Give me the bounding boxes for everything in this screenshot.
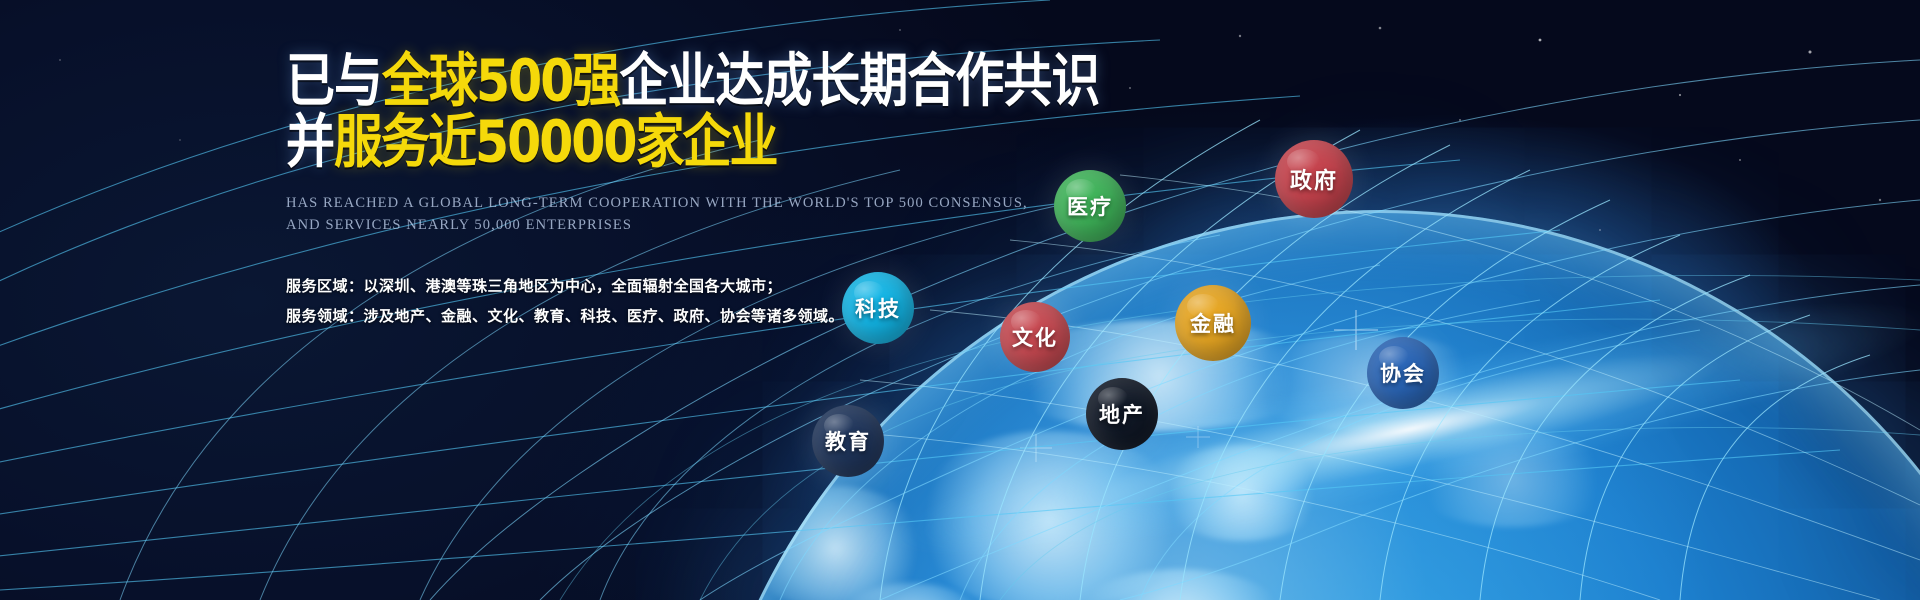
service-area-line: 服务区域：以深圳、港澳等珠三角地区为中心，全面辐射全国各大城市；	[286, 271, 1026, 301]
industry-bubble-label: 教育	[825, 426, 871, 456]
industry-bubble[interactable]: 协会	[1367, 337, 1439, 409]
service-field-line: 服务领域：涉及地产、金融、文化、教育、科技、医疗、政府、协会等诸多领域。	[286, 301, 1026, 331]
headline-line2-part1: 并	[286, 108, 334, 175]
service-description: 服务区域：以深圳、港澳等珠三角地区为中心，全面辐射全国各大城市； 服务领域：涉及…	[286, 271, 1026, 331]
headline-line2-part2: 服务近50000家企业	[334, 108, 776, 175]
headline: 已与全球500强企业达成长期合作共识 并服务近50000家企业	[286, 52, 1026, 162]
industry-bubble-label: 地产	[1099, 399, 1145, 429]
english-subtitle-line1: HAS REACHED A GLOBAL LONG-TERM COOPERATI…	[286, 192, 1026, 214]
banner-copy: 已与全球500强企业达成长期合作共识 并服务近50000家企业 HAS REAC…	[286, 52, 1026, 331]
industry-bubble[interactable]: 教育	[812, 405, 884, 477]
headline-line1-part2: 全球500强	[382, 47, 619, 114]
industry-bubble-label: 协会	[1380, 358, 1426, 388]
industry-bubble-label: 科技	[855, 293, 901, 323]
industry-bubble-label: 政府	[1290, 163, 1338, 195]
industry-bubble[interactable]: 政府	[1275, 140, 1353, 218]
industry-bubble[interactable]: 文化	[1000, 302, 1070, 372]
industry-bubble[interactable]: 医疗	[1054, 170, 1126, 242]
industry-bubble-label: 文化	[1012, 322, 1058, 352]
english-subtitle-line2: AND SERVICES NEARLY 50,000 ENTERPRISES	[286, 214, 1026, 236]
english-subtitle: HAS REACHED A GLOBAL LONG-TERM COOPERATI…	[286, 192, 1026, 237]
industry-bubble[interactable]: 科技	[842, 272, 914, 344]
industry-bubble-label: 金融	[1190, 308, 1236, 338]
industry-bubble-label: 医疗	[1067, 191, 1113, 221]
headline-line1-part1: 已与	[286, 47, 382, 114]
headline-line1-part3: 企业达成长期合作共识	[619, 47, 1099, 114]
industry-bubble[interactable]: 地产	[1086, 378, 1158, 450]
industry-bubble[interactable]: 金融	[1175, 285, 1251, 361]
promo-banner: 已与全球500强企业达成长期合作共识 并服务近50000家企业 HAS REAC…	[0, 0, 1920, 600]
